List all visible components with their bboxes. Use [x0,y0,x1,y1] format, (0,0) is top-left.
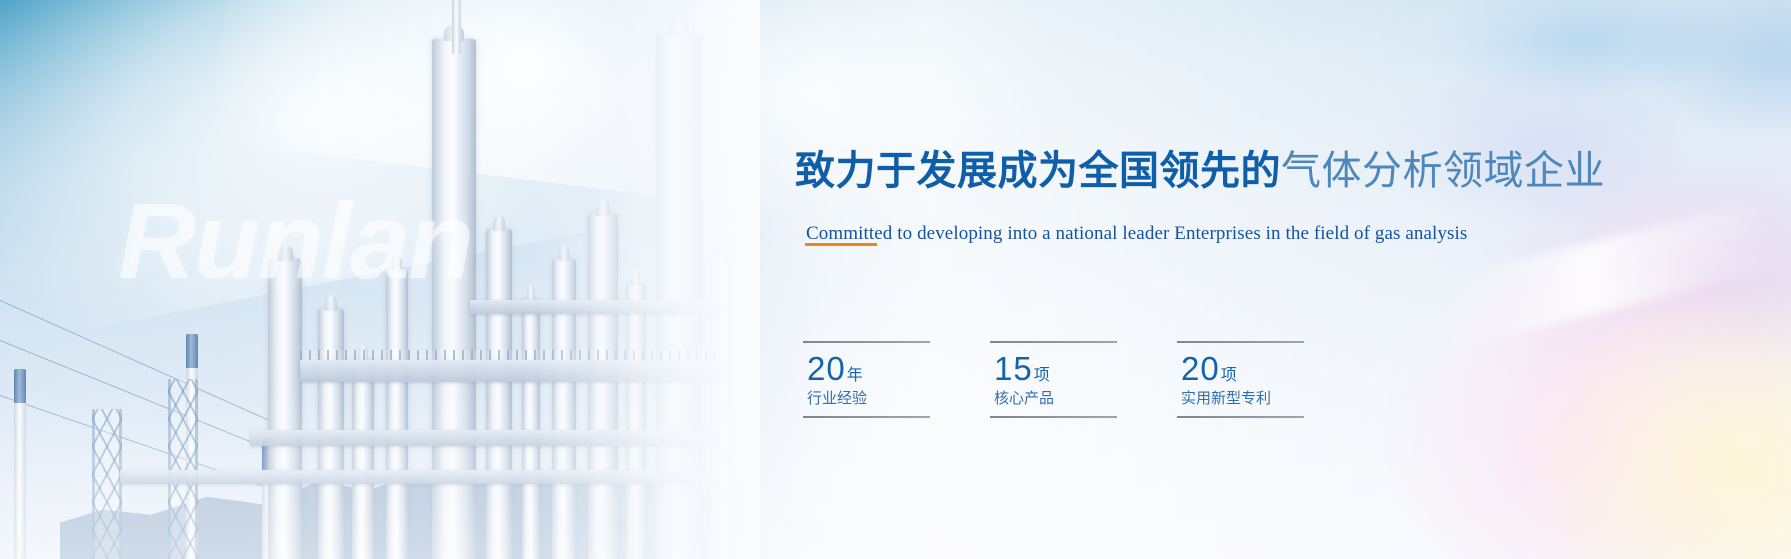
page-title: 致力于发展成为全国领先的气体分析领域企业 [795,151,1605,191]
stat-top-rule [990,341,1117,343]
stat-label: 核心产品 [994,387,1117,408]
stat-bottom-rule [1177,416,1304,418]
stat-number: 20 [807,350,846,387]
stat-value-row: 20年 [807,352,930,385]
stat-value-row: 15项 [994,352,1117,385]
stat-unit: 年 [847,367,863,384]
stat-label: 实用新型专利 [1181,387,1304,408]
stat-item: 20项 实用新型专利 [1177,341,1304,418]
stat-top-rule [803,341,930,343]
stat-item: 20年 行业经验 [803,341,930,418]
headline-strong: 致力于发展成为全国领先的 [795,149,1281,193]
headline-light: 气体分析领域企业 [1281,149,1605,193]
stat-label: 行业经验 [807,387,930,408]
stat-bottom-rule [803,416,930,418]
stat-unit: 项 [1034,367,1050,384]
subtitle-english: Committed to developing into a national … [806,223,1467,245]
stat-number: 20 [1181,350,1220,387]
stat-value-row: 20项 [1181,352,1304,385]
hero-banner: Runlan 致力于发展成为全国领先的气体分析领域企业 Committed to… [0,0,1791,559]
stats-row: 20年 行业经验 15项 核心产品 20项 实用新型专利 [803,341,1304,418]
stat-bottom-rule [990,416,1117,418]
stat-top-rule [1177,341,1304,343]
stat-item: 15项 核心产品 [990,341,1117,418]
stat-number: 15 [994,350,1033,387]
stat-unit: 项 [1221,367,1237,384]
banner-content: 致力于发展成为全国领先的气体分析领域企业 Committed to develo… [0,0,1791,559]
